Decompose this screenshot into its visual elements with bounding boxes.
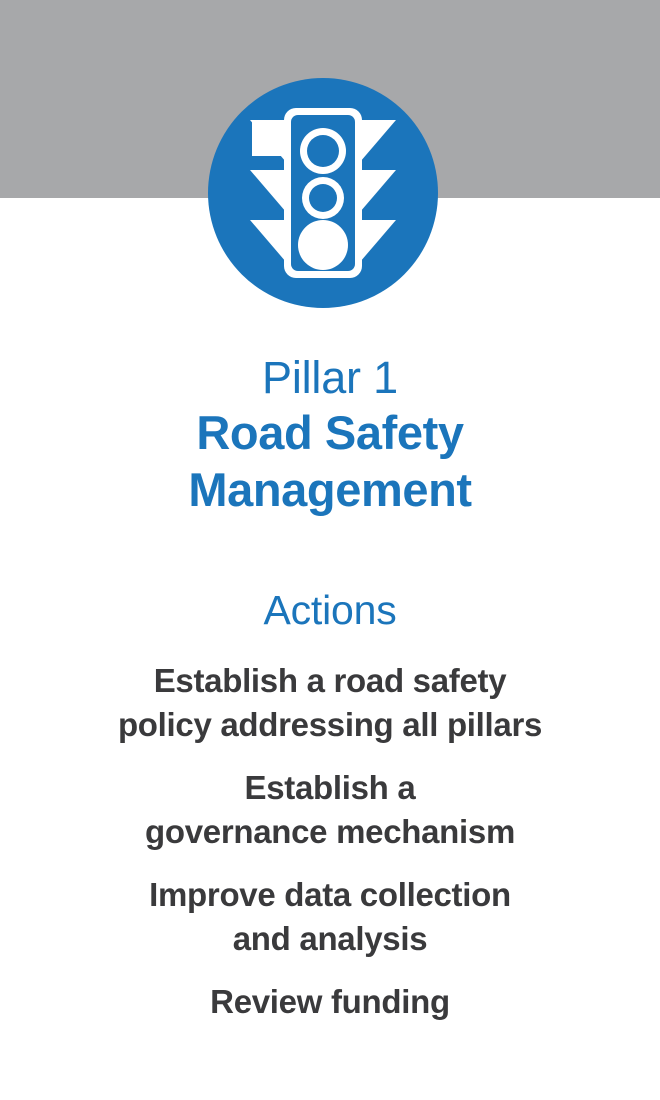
action-item-line-2: and analysis: [30, 917, 630, 962]
card-content: Pillar 1 Road Safety Management Actions …: [0, 308, 660, 1024]
actions-heading: Actions: [0, 589, 660, 632]
action-item: Establish a governance mechanism: [0, 766, 660, 855]
action-item-line-2: governance mechanism: [30, 810, 630, 855]
traffic-light-badge: [208, 78, 438, 308]
action-item: Improve data collection and analysis: [0, 873, 660, 962]
pillar-title-line-1: Road Safety: [40, 404, 620, 461]
actions-list: Establish a road safety policy addressin…: [0, 659, 660, 1025]
pillar-label: Pillar 1: [0, 355, 660, 402]
action-item-line-1: Improve data collection: [30, 873, 630, 918]
action-item-line-2: policy addressing all pillars: [30, 703, 630, 748]
action-item-line-1: Establish a road safety: [30, 659, 630, 704]
action-item-line-1: Review funding: [30, 980, 630, 1025]
action-item: Review funding: [0, 980, 660, 1025]
pillar-title: Road Safety Management: [0, 404, 660, 519]
action-item-line-1: Establish a: [30, 766, 630, 811]
traffic-light-icon: [208, 78, 438, 308]
action-item: Establish a road safety policy addressin…: [0, 659, 660, 748]
pillar-card: Pillar 1 Road Safety Management Actions …: [0, 0, 660, 1100]
pillar-title-line-2: Management: [40, 461, 620, 518]
